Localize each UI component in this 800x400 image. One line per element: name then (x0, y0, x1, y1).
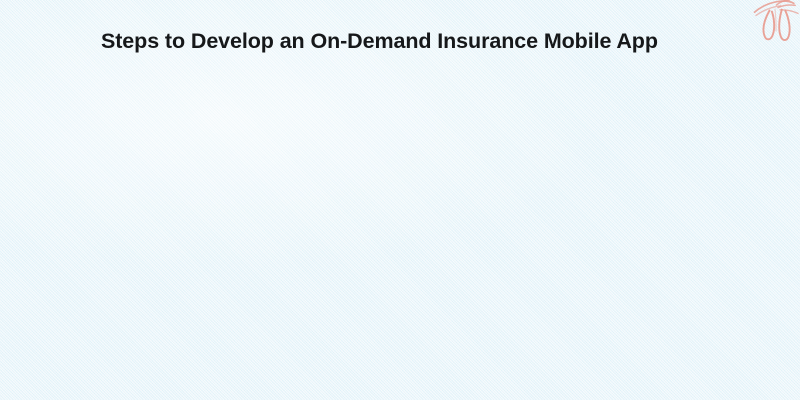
background-sheen (0, 0, 800, 400)
article-header-banner: Steps to Develop an On-Demand Insurance … (0, 0, 800, 400)
background-texture (0, 0, 800, 400)
floral-doodle-icon (754, 0, 800, 50)
page-title: Steps to Develop an On-Demand Insurance … (101, 27, 658, 55)
